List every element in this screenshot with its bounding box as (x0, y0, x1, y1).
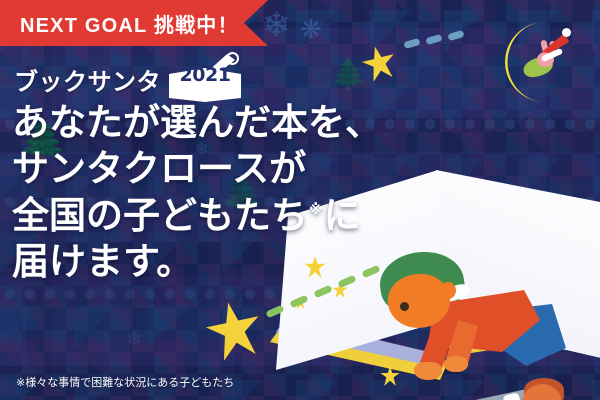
year-badge-label: 2021 (169, 64, 241, 86)
boy-hand (444, 356, 468, 372)
headline-line-2: サンタクロースが (12, 146, 382, 192)
year-badge: 2021 (169, 56, 241, 102)
boy-eye (400, 302, 409, 311)
headline-line-3-tail: に (324, 194, 361, 237)
boy-ear (440, 282, 456, 299)
next-goal-label: NEXT GOAL 挑戦中！ (20, 9, 239, 38)
crescent-moon-icon (505, 22, 583, 102)
boy-hand (414, 362, 442, 380)
crawling-boy-illustration (378, 252, 548, 400)
book-santa-campaign-banner: ❄ ❋ ❄ ❄ ❄ 🌲 🌲 🌲 (0, 0, 600, 400)
brand-logo-label: ブックサンタ (14, 62, 161, 97)
headline-line-1: あなたが選んだ本を、 (12, 100, 382, 146)
headline-line-3-text: 全国の子どもたち (12, 194, 308, 237)
santa-hat-pompom (562, 28, 571, 37)
reference-mark: ※ (309, 202, 323, 218)
next-goal-ribbon: NEXT GOAL 挑戦中！ (0, 0, 268, 46)
footnote-text: ※様々な事情で困難な状況にある子どもたち (16, 374, 234, 390)
brand-logo: ブックサンタ 2021 (14, 56, 241, 102)
bunny-icon (521, 46, 557, 80)
headline-block: あなたが選んだ本を、 サンタクロースが 全国の子どもたち※に 届けます。 (12, 100, 382, 285)
headline-line-4: 届けます。 (12, 239, 382, 285)
headline-line-3: 全国の子どもたち※に (12, 193, 382, 239)
